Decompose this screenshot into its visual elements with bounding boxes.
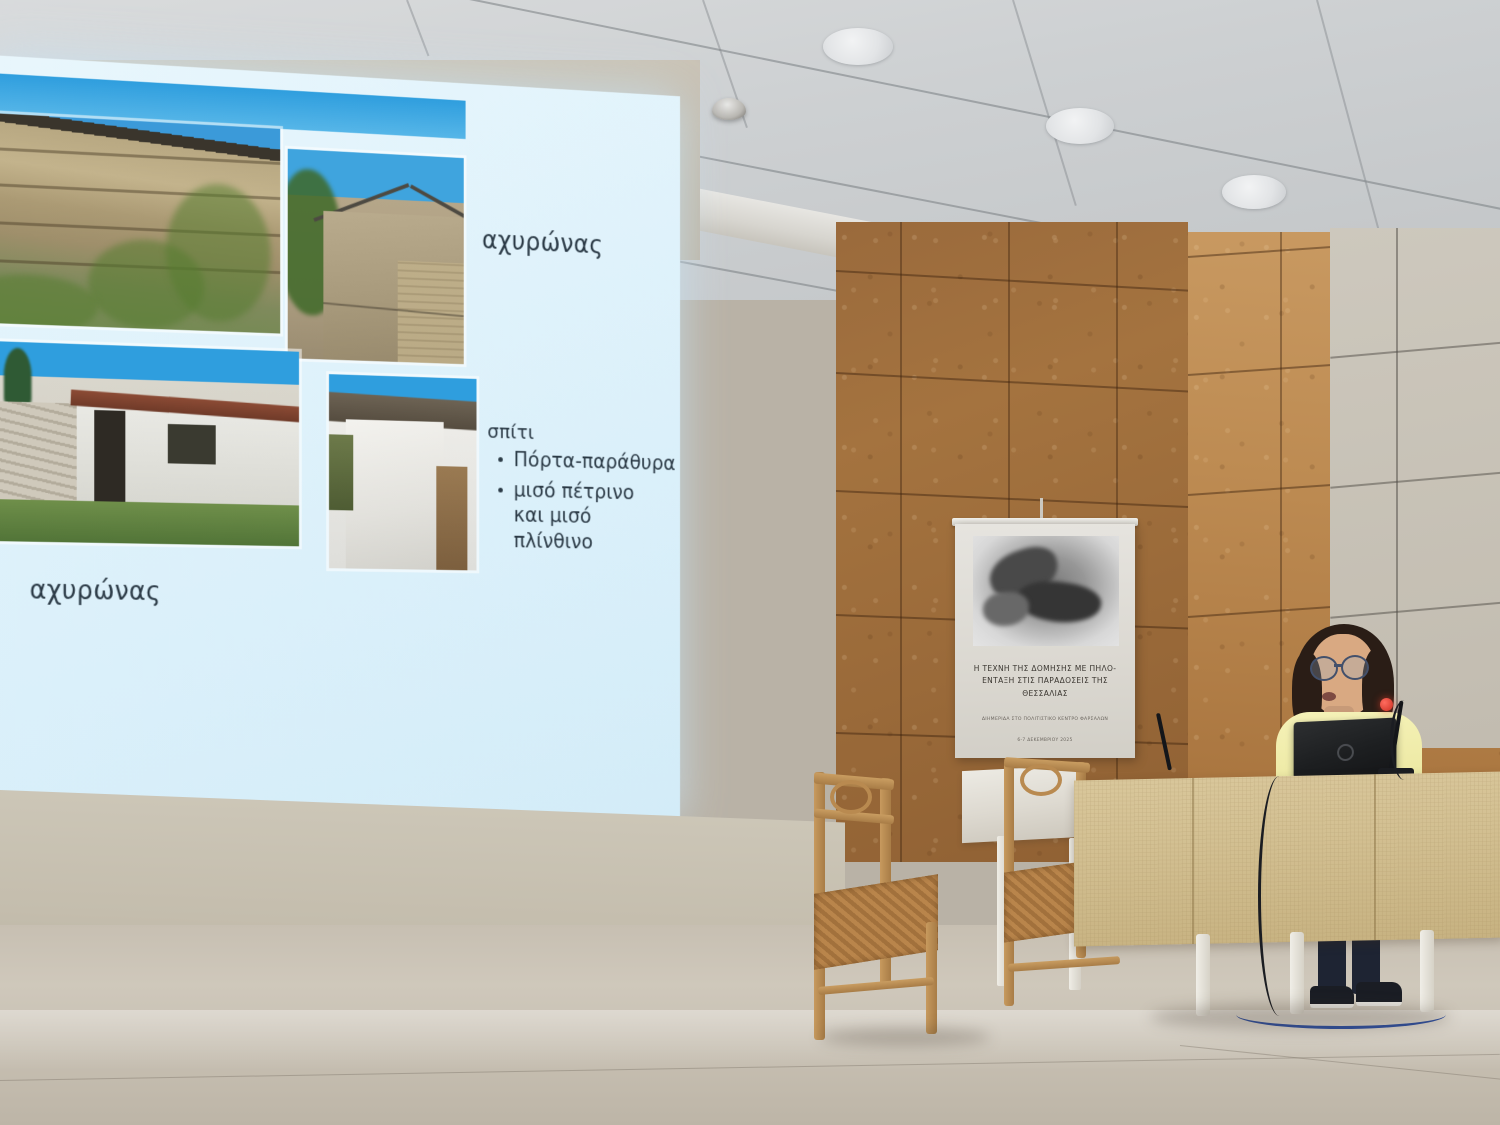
slide-photo-gabled-barn [288, 149, 464, 364]
slide-label-barn-top: αχυρώνας [482, 226, 603, 260]
speaker-glasses-bridge [1334, 664, 1342, 667]
slide-bullet-item: Πόρτα-παράθυρα [498, 447, 675, 476]
audio-cable [1390, 700, 1419, 780]
table-shadow [1150, 1004, 1450, 1030]
slide-label-house: σπίτι [487, 420, 534, 444]
table-leg [1196, 934, 1210, 1016]
bullet-dot-icon [498, 457, 503, 462]
banner-title-line2: ΕΝΤΑΞΗ ΣΤΙΣ ΠΑΡΑΔΟΣΕΙΣ ΤΗΣ ΘΕΣΣΑΛΙΑΣ [959, 674, 1131, 700]
projected-slide: αχυρώνας σπίτι Πόρτα-παράθυρα μισό πέτρι… [0, 55, 680, 825]
table-leg [1420, 930, 1434, 1012]
slide-photo-mudbrick-barn-wall [0, 111, 280, 333]
ceiling-downlight [823, 28, 893, 65]
banner-subtitle: ΔΙΗΜΕΡΙΔΑ ΣΤΟ ΠΟΛΙΤΙΣΤΙΚΟ ΚΕΝΤΡΟ ΦΑΡΣΑΛΩ… [961, 717, 1129, 722]
microphone-indicator-light [1380, 698, 1393, 711]
slide-photo-whitewashed-wall [329, 374, 477, 570]
slide-bullet-text: Πόρτα-παράθυρα [514, 447, 676, 476]
banner-photo [973, 536, 1119, 646]
smoke-detector-icon [712, 98, 746, 120]
speaker-mouth [1322, 692, 1336, 701]
projection-screen: αχυρώνας σπίτι Πόρτα-παράθυρα μισό πέτρι… [0, 55, 680, 825]
slide-bullet-text: μισό πέτρινο και μισό πλίνθινο [514, 478, 659, 556]
lecture-hall-photo: αχυρώνας σπίτι Πόρτα-παράθυρα μισό πέτρι… [0, 0, 1500, 1125]
ceiling-downlight [1222, 175, 1286, 209]
ceiling-downlight [1046, 108, 1114, 144]
speaker-glasses-right-lens [1341, 655, 1369, 680]
roll-up-banner: Η ΤΕΧΝΗ ΤΗΣ ΔΟΜΗΣΗΣ ΜΕ ΠΗΛΟ- ΕΝΤΑΞΗ ΣΤΙΣ… [955, 524, 1135, 758]
slide-photo-ruined-house [0, 340, 299, 546]
banner-date: 6-7 ΔΕΚΕΜΒΡΙΟΥ 2025 [961, 738, 1129, 743]
power-cable [1258, 776, 1301, 1016]
bullet-dot-icon [498, 488, 503, 493]
chair-shadow [820, 1028, 990, 1046]
laptop-logo-icon [1337, 744, 1354, 762]
slide-bullet-item: μισό πέτρινο και μισό πλίνθινο [498, 477, 659, 555]
wooden-chair [808, 772, 938, 1042]
slide-label-barn-bottom: αχυρώνας [30, 576, 161, 607]
speaker-glasses-left-lens [1310, 656, 1338, 681]
